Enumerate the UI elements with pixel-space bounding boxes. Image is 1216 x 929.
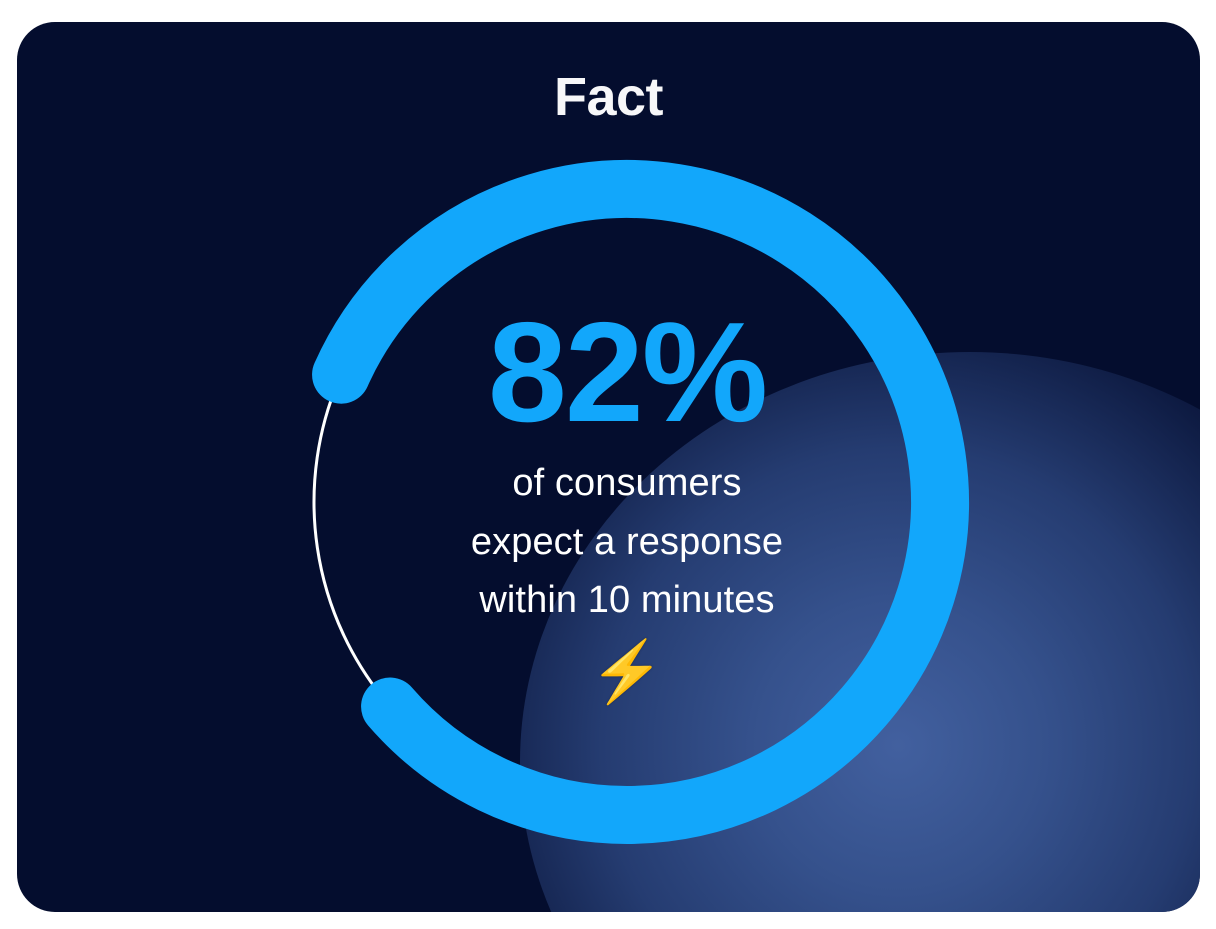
fact-card: Fact 82% of consumers expect a response … <box>17 22 1200 912</box>
donut-progress-chart: 82% of consumers expect a response withi… <box>284 159 970 845</box>
page-title: Fact <box>17 66 1200 128</box>
donut-svg <box>284 159 970 845</box>
donut-track-arc <box>314 375 390 707</box>
donut-value-arc <box>341 189 940 815</box>
screenshot-canvas: Fact 82% of consumers expect a response … <box>0 0 1216 929</box>
